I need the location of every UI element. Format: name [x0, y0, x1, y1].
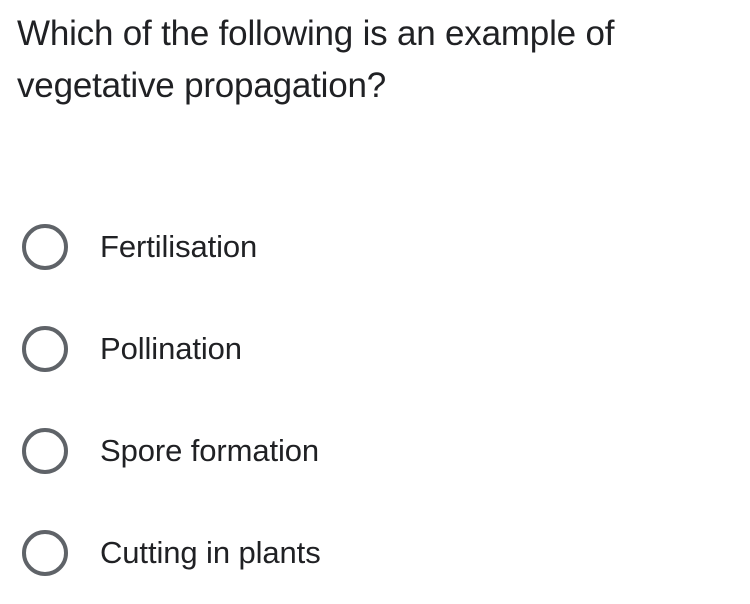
option-row-0[interactable]: Fertilisation	[0, 196, 750, 298]
option-row-2[interactable]: Spore formation	[0, 400, 750, 502]
radio-unchecked-icon[interactable]	[22, 224, 68, 270]
option-label-0: Fertilisation	[100, 228, 257, 266]
option-row-1[interactable]: Pollination	[0, 298, 750, 400]
answer-options-group: Fertilisation Pollination Spore formatio…	[0, 196, 750, 604]
radio-unchecked-icon[interactable]	[22, 326, 68, 372]
question-prompt: Which of the following is an example of …	[17, 8, 743, 112]
option-label-2: Spore formation	[100, 432, 319, 470]
option-row-3[interactable]: Cutting in plants	[0, 502, 750, 604]
radio-unchecked-icon[interactable]	[22, 530, 68, 576]
option-label-3: Cutting in plants	[100, 534, 321, 572]
option-label-1: Pollination	[100, 330, 242, 368]
radio-unchecked-icon[interactable]	[22, 428, 68, 474]
quiz-question-card: Which of the following is an example of …	[0, 0, 750, 572]
